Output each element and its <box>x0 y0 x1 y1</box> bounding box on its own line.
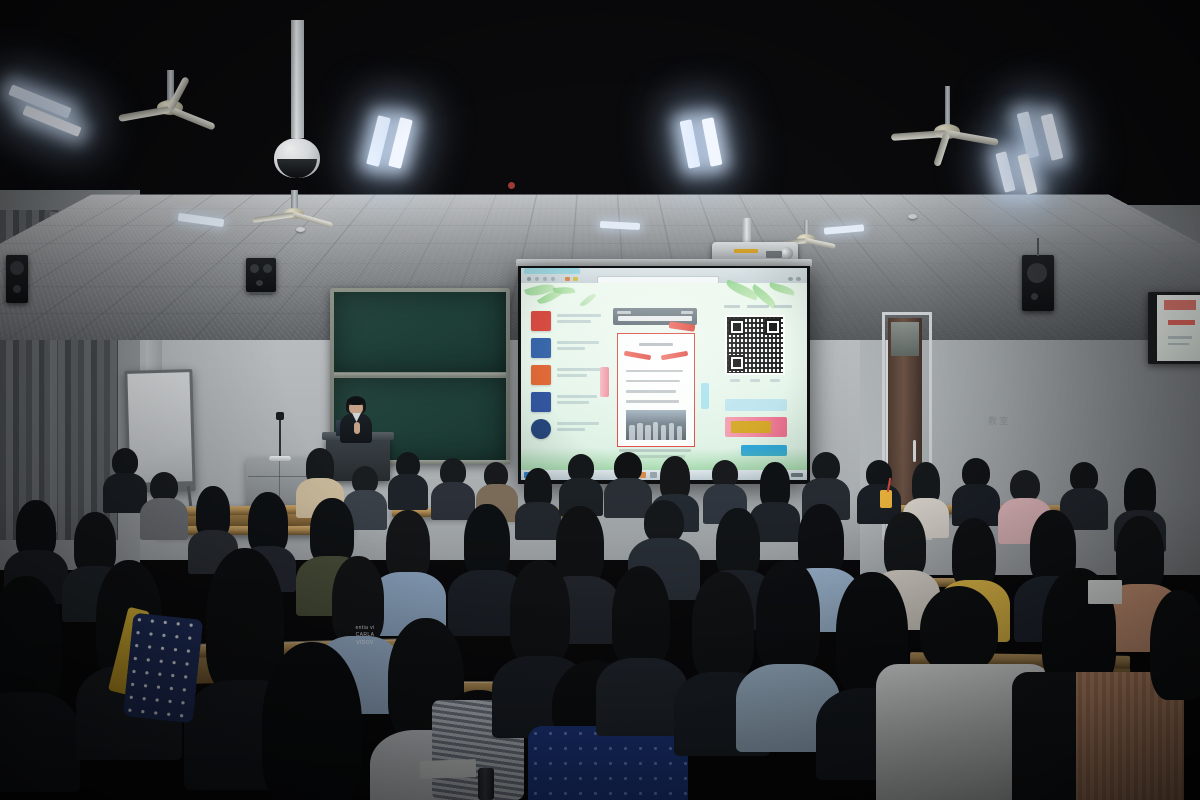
speaker-tweeter <box>13 285 21 293</box>
qr-panel-header-line <box>724 305 740 308</box>
wall-monitor-screen <box>1157 295 1200 361</box>
qr-panel-header-line <box>774 305 792 308</box>
audience-torso <box>431 482 475 520</box>
speaker-driver <box>250 264 259 273</box>
presenter <box>332 396 380 444</box>
speaker-hanger-cable <box>1037 238 1039 256</box>
presenter-hand <box>354 422 360 434</box>
photo-person <box>645 425 650 440</box>
smoke-detector <box>296 227 305 232</box>
article-title-line <box>557 341 599 344</box>
wall-monitor <box>1148 292 1200 364</box>
wall-speaker-front-left <box>246 258 276 292</box>
qr-finder-pattern <box>729 355 745 371</box>
poster-ribbon-right <box>660 351 688 361</box>
water-bottle[interactable] <box>478 768 494 800</box>
badge-free-sticker-text <box>731 421 771 432</box>
speaker-driver <box>1027 263 1047 283</box>
article-title-line <box>557 347 585 350</box>
smoke-detector <box>908 214 917 219</box>
poster-text-line <box>626 370 684 373</box>
wall-sign-text: 教室 <box>988 414 1010 427</box>
fluorescent-light-panel <box>388 117 413 169</box>
jacket-print: entia vi CARLA VIDOV <box>336 625 394 647</box>
projector-vent <box>766 251 782 258</box>
audience-hair <box>692 572 754 680</box>
audience-hair <box>798 504 844 576</box>
microphone-base <box>269 456 291 461</box>
monitor-content-line <box>1168 343 1188 346</box>
browser-back-icon[interactable] <box>527 277 531 281</box>
projector-label <box>734 249 758 253</box>
fan-blade <box>169 106 216 130</box>
poster-card <box>617 333 695 447</box>
fluorescent-light-panel <box>1017 153 1037 194</box>
speaker-tweeter <box>1031 293 1038 300</box>
audience-hair <box>74 512 116 574</box>
microphone-capsule <box>276 412 284 420</box>
monitor-content-line <box>1168 336 1191 339</box>
fluorescent-light-panel <box>1041 113 1064 161</box>
fluorescent-light-panel <box>1017 111 1040 159</box>
lecture-hall-photo: 教室 <box>0 0 1200 800</box>
article-title-line <box>557 314 601 317</box>
speaker-tweeter <box>256 280 263 286</box>
badge-subscribe[interactable] <box>725 399 787 411</box>
dome-security-camera <box>272 20 322 130</box>
article-thumbnail[interactable] <box>531 311 551 331</box>
fan-downrod <box>291 190 298 210</box>
qr-caption-line <box>770 379 780 382</box>
qr-caption-line <box>730 379 740 382</box>
banner-subtext <box>617 311 630 314</box>
poster-text-line <box>626 380 681 383</box>
webpage-body <box>521 283 807 470</box>
wall-speaker-left <box>6 255 28 303</box>
qr-finder-pattern <box>765 319 781 335</box>
door-glass-pane <box>891 322 919 356</box>
audience-head <box>920 586 998 674</box>
microphone-on-stand[interactable] <box>268 412 292 462</box>
audience-torso <box>515 502 561 540</box>
browser-toolbar <box>521 268 807 283</box>
ceiling-fan[interactable] <box>268 190 320 234</box>
fan-blade <box>118 106 170 122</box>
banner-subtext <box>681 311 693 314</box>
fluorescent-light-panel <box>995 151 1015 192</box>
article-thumbnail[interactable] <box>531 392 551 412</box>
audience-polka-top <box>123 613 203 724</box>
photo-person <box>629 425 634 441</box>
side-tab-cyan[interactable] <box>701 383 709 409</box>
qr-finder-core <box>733 323 741 331</box>
poster-text-line <box>626 390 676 393</box>
article-thumbnail[interactable] <box>531 419 551 439</box>
fluorescent-light-panel <box>702 117 723 166</box>
audience-hair <box>248 492 288 554</box>
badge-free-sticker[interactable] <box>725 417 787 437</box>
jacket-print-line-3: VIDOV <box>336 640 394 647</box>
browser-menu-icon[interactable] <box>796 277 801 281</box>
monitor-content-accent <box>1168 320 1195 325</box>
audience-torso <box>103 473 147 513</box>
article-title-line <box>557 428 585 431</box>
audience-torso <box>388 474 428 510</box>
qr-code[interactable] <box>725 315 785 375</box>
jacket-print-line-2: CARLA <box>336 632 394 639</box>
presenter-fringe <box>347 397 365 405</box>
chalkboard-upper <box>334 292 506 372</box>
audience-hair <box>262 642 362 800</box>
audience-hair <box>612 566 670 666</box>
browser-stop-icon[interactable] <box>565 277 570 281</box>
fan-blade <box>891 130 947 141</box>
monitor-content-banner <box>1164 300 1196 309</box>
audience-hair <box>884 512 926 578</box>
audience-hair <box>464 504 510 578</box>
browser-forward-icon[interactable] <box>535 277 539 281</box>
audience-hair <box>0 576 62 706</box>
microphone-stand <box>279 420 281 458</box>
audience-hair <box>756 560 820 672</box>
audience-hair <box>1124 468 1156 516</box>
photo-person <box>669 423 674 440</box>
leaf-decoration <box>768 282 795 295</box>
audience-hair <box>1150 590 1200 700</box>
article-title-line <box>557 401 589 404</box>
article-title-line <box>557 320 591 323</box>
poster-group-photo <box>626 410 687 440</box>
audience-hair <box>1116 516 1164 592</box>
ceiling-fan[interactable] <box>915 86 979 142</box>
jacket-print-line-1: entia vi <box>336 625 394 632</box>
browser-reload-icon[interactable] <box>543 277 547 281</box>
audience-hair <box>310 498 354 564</box>
qr-caption-line <box>750 379 760 382</box>
taskbar-app-icon[interactable] <box>650 472 657 478</box>
article-title-line <box>557 374 587 377</box>
ceiling-fan[interactable] <box>140 70 200 120</box>
side-tab-pink[interactable] <box>600 367 609 397</box>
browser-bookmark-icon[interactable] <box>573 277 578 281</box>
audience-hair <box>952 518 996 588</box>
qr-panel-header-line <box>747 305 769 308</box>
speaker-bracket <box>250 292 272 295</box>
fluorescent-light-panel <box>366 115 391 167</box>
fan-blade <box>946 130 998 146</box>
audience-hair <box>510 560 570 664</box>
article-thumbnail[interactable] <box>531 338 551 358</box>
poster-text-line <box>626 400 679 403</box>
audience-hair <box>556 506 604 584</box>
photo-person <box>661 425 666 441</box>
taskbar-clock[interactable] <box>791 473 803 477</box>
chalkboard-divider-rail <box>334 373 506 377</box>
leaf-decoration <box>580 291 597 308</box>
poster-ribbon-left <box>624 351 652 361</box>
smoke-detector <box>508 182 515 189</box>
audience-torso <box>140 498 188 540</box>
audience-black-top <box>1012 672 1076 800</box>
banner-main-text <box>618 316 692 321</box>
desk-paper <box>1088 580 1122 604</box>
photo-person <box>653 422 658 440</box>
door-handle[interactable] <box>913 440 916 462</box>
article-title-line <box>557 368 601 371</box>
article-title-line <box>557 422 599 425</box>
qr-finder-core <box>733 359 741 367</box>
photo-person <box>637 423 642 441</box>
audience-blue-shirt <box>528 726 688 800</box>
article-thumbnail[interactable] <box>531 365 551 385</box>
speaker-driver <box>10 261 24 275</box>
browser-close-icon[interactable] <box>788 277 793 281</box>
projection-screen <box>521 268 807 480</box>
projector-mount-pole <box>742 218 751 242</box>
audience-hair <box>386 510 430 580</box>
qr-finder-core <box>769 323 777 331</box>
fan-downrod <box>945 86 950 126</box>
wall-speaker-right <box>1022 255 1054 311</box>
audience-hair <box>716 508 760 578</box>
audience-head <box>112 448 138 476</box>
fluorescent-light-panel <box>680 119 701 168</box>
drink-cup[interactable] <box>880 490 892 508</box>
desk-paper <box>420 759 477 779</box>
camera-mount-pole <box>291 20 304 138</box>
poster-title-line <box>639 343 672 346</box>
browser-home-icon[interactable] <box>551 277 555 281</box>
photo-person <box>677 426 682 441</box>
article-title-line <box>557 395 597 398</box>
qr-finder-pattern <box>729 319 745 335</box>
browser-tab[interactable] <box>524 268 580 274</box>
audience-torso <box>0 692 80 792</box>
speaker-driver <box>263 264 272 273</box>
